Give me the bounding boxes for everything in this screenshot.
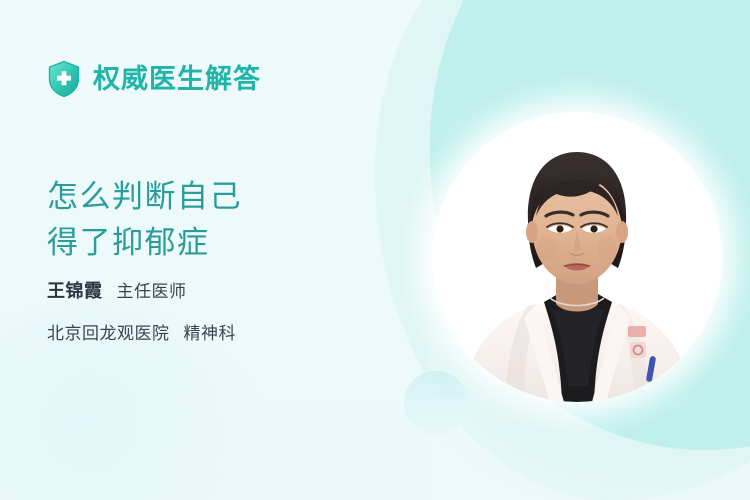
- page-title-line-1: 怎么判断自己: [47, 179, 242, 214]
- doctor-department: 精神科: [184, 319, 237, 344]
- brand-badge: 权威医生解答: [47, 60, 261, 98]
- page-title-line-2: 得了抑郁症: [47, 220, 242, 266]
- doctor-name-row: 王锦霞 主任医师: [47, 277, 236, 303]
- card-content: 权威医生解答 怎么判断自己 得了抑郁症 王锦霞 主任医师 北京回龙观医院 精神科: [47, 0, 387, 500]
- brand-label: 权威医生解答: [93, 66, 261, 93]
- doctor-hospital: 北京回龙观医院: [47, 319, 170, 344]
- doctor-affiliation-row: 北京回龙观医院 精神科: [47, 319, 236, 344]
- decorative-small-circle: [404, 371, 468, 435]
- shield-plus-icon: [47, 60, 81, 98]
- doctor-name: 王锦霞: [47, 277, 103, 303]
- doctor-portrait: [432, 112, 722, 402]
- doctor-rank: 主任医师: [117, 277, 187, 302]
- doctor-answer-card: 权威医生解答 怎么判断自己 得了抑郁症 王锦霞 主任医师 北京回龙观医院 精神科: [0, 0, 750, 500]
- doctor-info: 王锦霞 主任医师 北京回龙观医院 精神科: [47, 277, 236, 344]
- page-title: 怎么判断自己 得了抑郁症: [47, 174, 242, 266]
